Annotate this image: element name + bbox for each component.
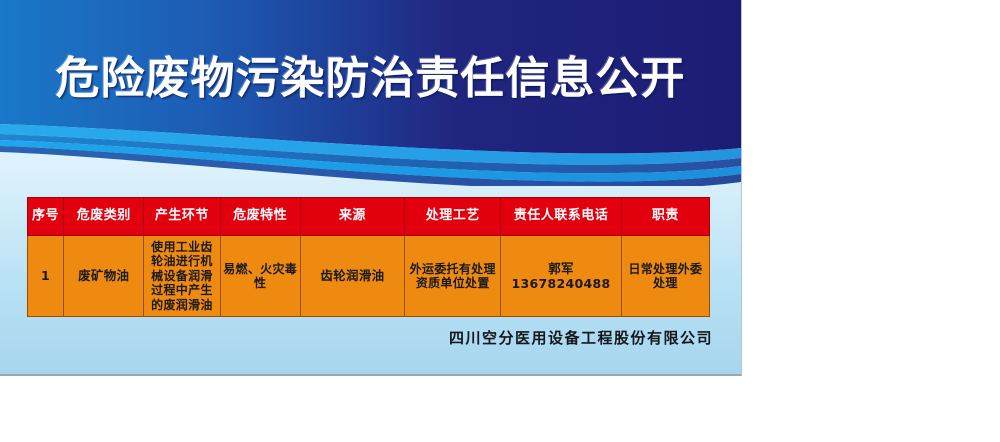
poster-banner: 危险废物污染防治责任信息公开 (0, 0, 741, 186)
column-header-category: 危废类别 (64, 198, 144, 236)
column-header-process: 处理工艺 (405, 198, 501, 236)
column-header-index: 序号 (28, 198, 64, 236)
cell-duty: 日常处理外委处理 (621, 236, 709, 317)
cell-process: 外运委托有处理资质单位处置 (405, 236, 501, 317)
hazardous-waste-table: 序号 危废类别 产生环节 危废特性 来源 处理工艺 责任人联系电话 职责 1 废… (27, 197, 710, 317)
company-name: 四川空分医用设备工程股份有限公司 (0, 327, 713, 348)
cell-source: 齿轮润滑油 (300, 236, 404, 317)
contact-phone: 13678240488 (503, 276, 618, 291)
cell-generation-link: 使用工业齿轮油进行机械设备润滑过程中产生的废润滑油 (144, 236, 220, 317)
banner-wave-graphic (0, 0, 741, 186)
table-row: 1 废矿物油 使用工业齿轮油进行机械设备润滑过程中产生的废润滑油 易燃、火灾毒性… (28, 236, 710, 317)
column-header-source: 来源 (300, 198, 404, 236)
column-header-contact-phone: 责任人联系电话 (501, 198, 621, 236)
information-disclosure-poster: 危险废物污染防治责任信息公开 序号 危废类别 产生环节 危废特性 来源 处理工艺… (0, 0, 742, 376)
cell-contact: 郭军 13678240488 (501, 236, 621, 317)
contact-name: 郭军 (503, 261, 618, 276)
column-header-generation-link: 产生环节 (144, 198, 220, 236)
column-header-characteristics: 危废特性 (220, 198, 300, 236)
table-header-row: 序号 危废类别 产生环节 危废特性 来源 处理工艺 责任人联系电话 职责 (28, 198, 710, 236)
cell-category: 废矿物油 (64, 236, 144, 317)
cell-characteristics: 易燃、火灾毒性 (220, 236, 300, 317)
cell-index: 1 (28, 236, 64, 317)
column-header-duty: 职责 (621, 198, 709, 236)
